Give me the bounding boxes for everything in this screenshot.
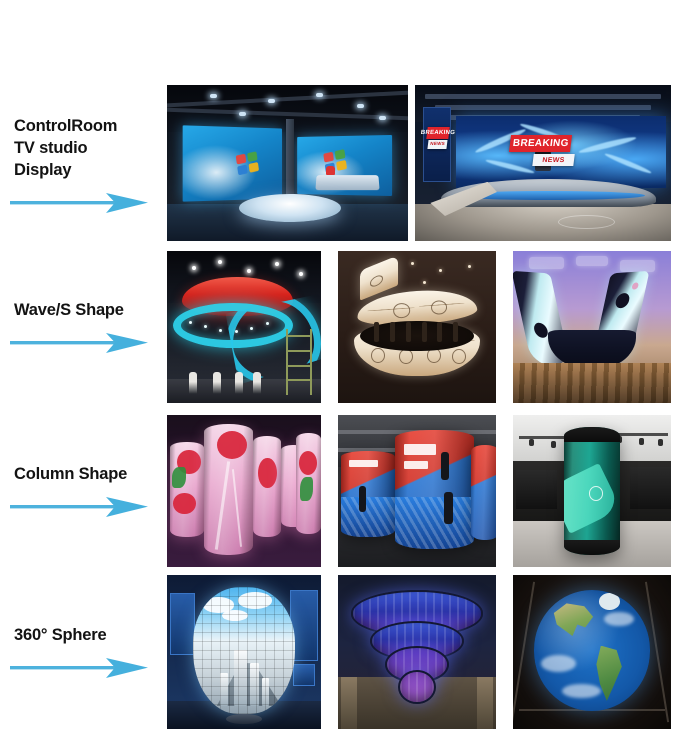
row-controlroom: ControlRoom TV studio Display xyxy=(0,84,680,248)
led-display-shape-catalog: ControlRoom TV studio Display xyxy=(0,0,680,740)
photo-wave-red-cyan xyxy=(167,251,321,403)
row-arrow-sphere xyxy=(0,655,160,681)
image-control-room-curved-led-video-wall[interactable] xyxy=(166,84,409,242)
breaking-badge-main: BREAKING xyxy=(509,135,573,152)
row-label-text: Wave/S Shape xyxy=(0,300,160,322)
image-breaking-news-studio-led-backdrop[interactable]: BREAKING NEWS BREAKING NEWS xyxy=(414,84,672,242)
photo-v-shape-ribbon xyxy=(513,251,671,403)
row-sphere: 360° Sphere xyxy=(0,574,680,732)
row-column-shape: Column Shape xyxy=(0,414,680,570)
row-label-text: Column Shape xyxy=(0,464,160,486)
row-label-controlroom: ControlRoom TV studio Display xyxy=(0,84,160,248)
photo-pink-columns xyxy=(167,415,321,567)
right-arrow-icon xyxy=(10,330,150,356)
news-badge-side: NEWS xyxy=(427,140,447,149)
row-label-text: ControlRoom TV studio Display xyxy=(0,116,160,181)
image-green-cylinder-led-column-retail[interactable] xyxy=(512,414,672,568)
right-arrow-icon xyxy=(10,655,150,681)
image-spiral-ribbon-led-screen[interactable] xyxy=(337,250,497,404)
image-red-blue-cylinder-led-columns[interactable] xyxy=(337,414,497,568)
row-label-wave-s-shape: Wave/S Shape xyxy=(0,250,160,406)
row-arrow-column-shape xyxy=(0,494,160,520)
image-faceted-led-sphere-cityscape[interactable] xyxy=(166,574,322,730)
row-wave-s-shape: Wave/S Shape xyxy=(0,250,680,406)
photo-breaking-news-studio: BREAKING NEWS BREAKING NEWS xyxy=(415,85,671,241)
row-label-text: 360° Sphere xyxy=(0,625,160,647)
photo-faceted-sphere xyxy=(167,575,321,729)
breaking-badge-side: BREAKING xyxy=(426,127,449,139)
right-arrow-icon xyxy=(10,190,150,216)
image-red-cyan-curved-wave-led-installation[interactable] xyxy=(166,250,322,404)
row-arrow-wave-s-shape xyxy=(0,330,160,356)
image-v-shape-wave-led-ribbon[interactable] xyxy=(512,250,672,404)
row-arrow-controlroom xyxy=(0,190,160,216)
news-badge-main: NEWS xyxy=(532,154,574,166)
row-label-sphere: 360° Sphere xyxy=(0,574,160,732)
photo-green-column xyxy=(513,415,671,567)
photo-red-blue-columns xyxy=(338,415,496,567)
image-tiered-circular-ceiling-led-display[interactable] xyxy=(337,574,497,730)
image-earth-globe-led-sphere[interactable] xyxy=(512,574,672,730)
photo-spiral-ribbon xyxy=(338,251,496,403)
image-pink-cylinder-led-columns[interactable] xyxy=(166,414,322,568)
photo-tiered-ceiling-display xyxy=(338,575,496,729)
right-arrow-icon xyxy=(10,494,150,520)
photo-control-room xyxy=(167,85,408,241)
row-label-column-shape: Column Shape xyxy=(0,414,160,570)
photo-earth-globe xyxy=(513,575,671,729)
